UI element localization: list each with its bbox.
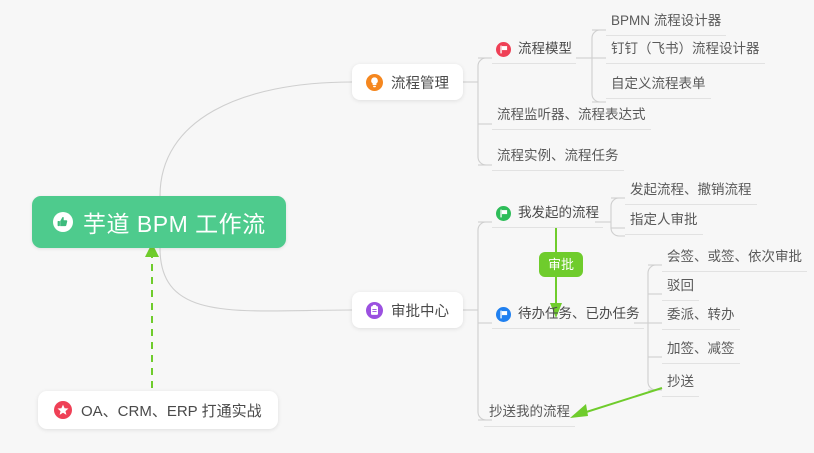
leaf-node-assignee-approval[interactable]: 指定人审批 — [625, 211, 703, 235]
leaf-label-delegate-transfer: 委派、转办 — [667, 307, 735, 322]
root-label: 芋道 BPM 工作流 — [83, 205, 266, 239]
wire-started-spine — [611, 198, 625, 236]
leaf-node-add-remove-sign[interactable]: 加签、减签 — [662, 340, 740, 364]
leaf-label-launch-cancel: 发起流程、撤销流程 — [630, 182, 752, 197]
wire-root-to-approval-center — [160, 248, 352, 311]
branch-label-process-management: 流程管理 — [391, 72, 449, 93]
leaf-node-cc[interactable]: 抄送 — [662, 373, 699, 397]
leaf-label-reject: 驳回 — [667, 278, 694, 293]
annotation-badge-label: 审批 — [548, 257, 574, 272]
leaf-label-countersign: 会签、或签、依次审批 — [667, 249, 802, 264]
star-icon — [54, 401, 72, 419]
branch-node-process-management[interactable]: 流程管理 — [352, 64, 463, 100]
annotation-badge-approval: 审批 — [539, 252, 583, 277]
leaf-label-cc-to-me: 抄送我的流程 — [489, 404, 570, 419]
flag-icon — [496, 42, 511, 57]
wire-todo-spine — [648, 265, 662, 390]
sub-label-my-started-processes: 我发起的流程 — [518, 204, 599, 222]
wire-pm-spine — [478, 58, 492, 165]
leaf-label-add-remove-sign: 加签、减签 — [667, 341, 735, 356]
leaf-node-countersign[interactable]: 会签、或签、依次审批 — [662, 248, 807, 272]
root-node[interactable]: 芋道 BPM 工作流 — [32, 196, 286, 248]
arrow-cc-to-ccmine — [580, 388, 662, 414]
flag-icon — [496, 307, 511, 322]
sub-node-process-model[interactable]: 流程模型 — [492, 40, 576, 64]
sub-node-my-started-processes[interactable]: 我发起的流程 — [492, 204, 603, 228]
leaf-node-delegate-transfer[interactable]: 委派、转办 — [662, 306, 740, 330]
leaf-node-dingtalk-designer[interactable]: 钉钉（飞书）流程设计器 — [606, 40, 765, 64]
leaf-node-listener-expression[interactable]: 流程监听器、流程表达式 — [492, 106, 651, 130]
leaf-node-launch-cancel[interactable]: 发起流程、撤销流程 — [625, 181, 757, 205]
leaf-label-dingtalk-designer: 钉钉（飞书）流程设计器 — [611, 41, 760, 56]
note-node-integration[interactable]: OA、CRM、ERP 打通实战 — [38, 391, 278, 429]
lightbulb-icon — [366, 74, 383, 91]
note-label-integration: OA、CRM、ERP 打通实战 — [81, 400, 262, 421]
sub-node-todo-done-tasks[interactable]: 待办任务、已办任务 — [492, 305, 644, 329]
leaf-label-instance-task: 流程实例、流程任务 — [497, 148, 619, 163]
flag-icon — [496, 206, 511, 221]
leaf-node-instance-task[interactable]: 流程实例、流程任务 — [492, 147, 624, 171]
sub-label-process-model: 流程模型 — [518, 40, 572, 58]
branch-node-approval-center[interactable]: 审批中心 — [352, 292, 463, 328]
leaf-node-cc-to-me[interactable]: 抄送我的流程 — [484, 403, 575, 427]
leaf-label-custom-form: 自定义流程表单 — [611, 76, 706, 91]
leaf-node-bpmn-designer[interactable]: BPMN 流程设计器 — [606, 12, 726, 36]
clipboard-icon — [366, 302, 383, 319]
wire-root-to-process-mgmt — [160, 82, 352, 196]
leaf-node-reject[interactable]: 驳回 — [662, 277, 699, 301]
leaf-label-assignee-approval: 指定人审批 — [630, 212, 698, 227]
wire-ac-spine — [478, 222, 492, 420]
wire-model-spine — [592, 30, 606, 102]
sub-label-todo-done-tasks: 待办任务、已办任务 — [518, 305, 640, 323]
leaf-label-listener-expression: 流程监听器、流程表达式 — [497, 107, 646, 122]
leaf-node-custom-form[interactable]: 自定义流程表单 — [606, 75, 711, 99]
leaf-label-cc: 抄送 — [667, 374, 694, 389]
mindmap-canvas: 芋道 BPM 工作流 流程管理 流程模型 BPMN 流程设计器 钉钉（飞书）流程… — [0, 0, 814, 453]
branch-label-approval-center: 审批中心 — [391, 300, 449, 321]
thumbs-up-icon — [52, 211, 74, 233]
leaf-label-bpmn-designer: BPMN 流程设计器 — [611, 13, 721, 28]
